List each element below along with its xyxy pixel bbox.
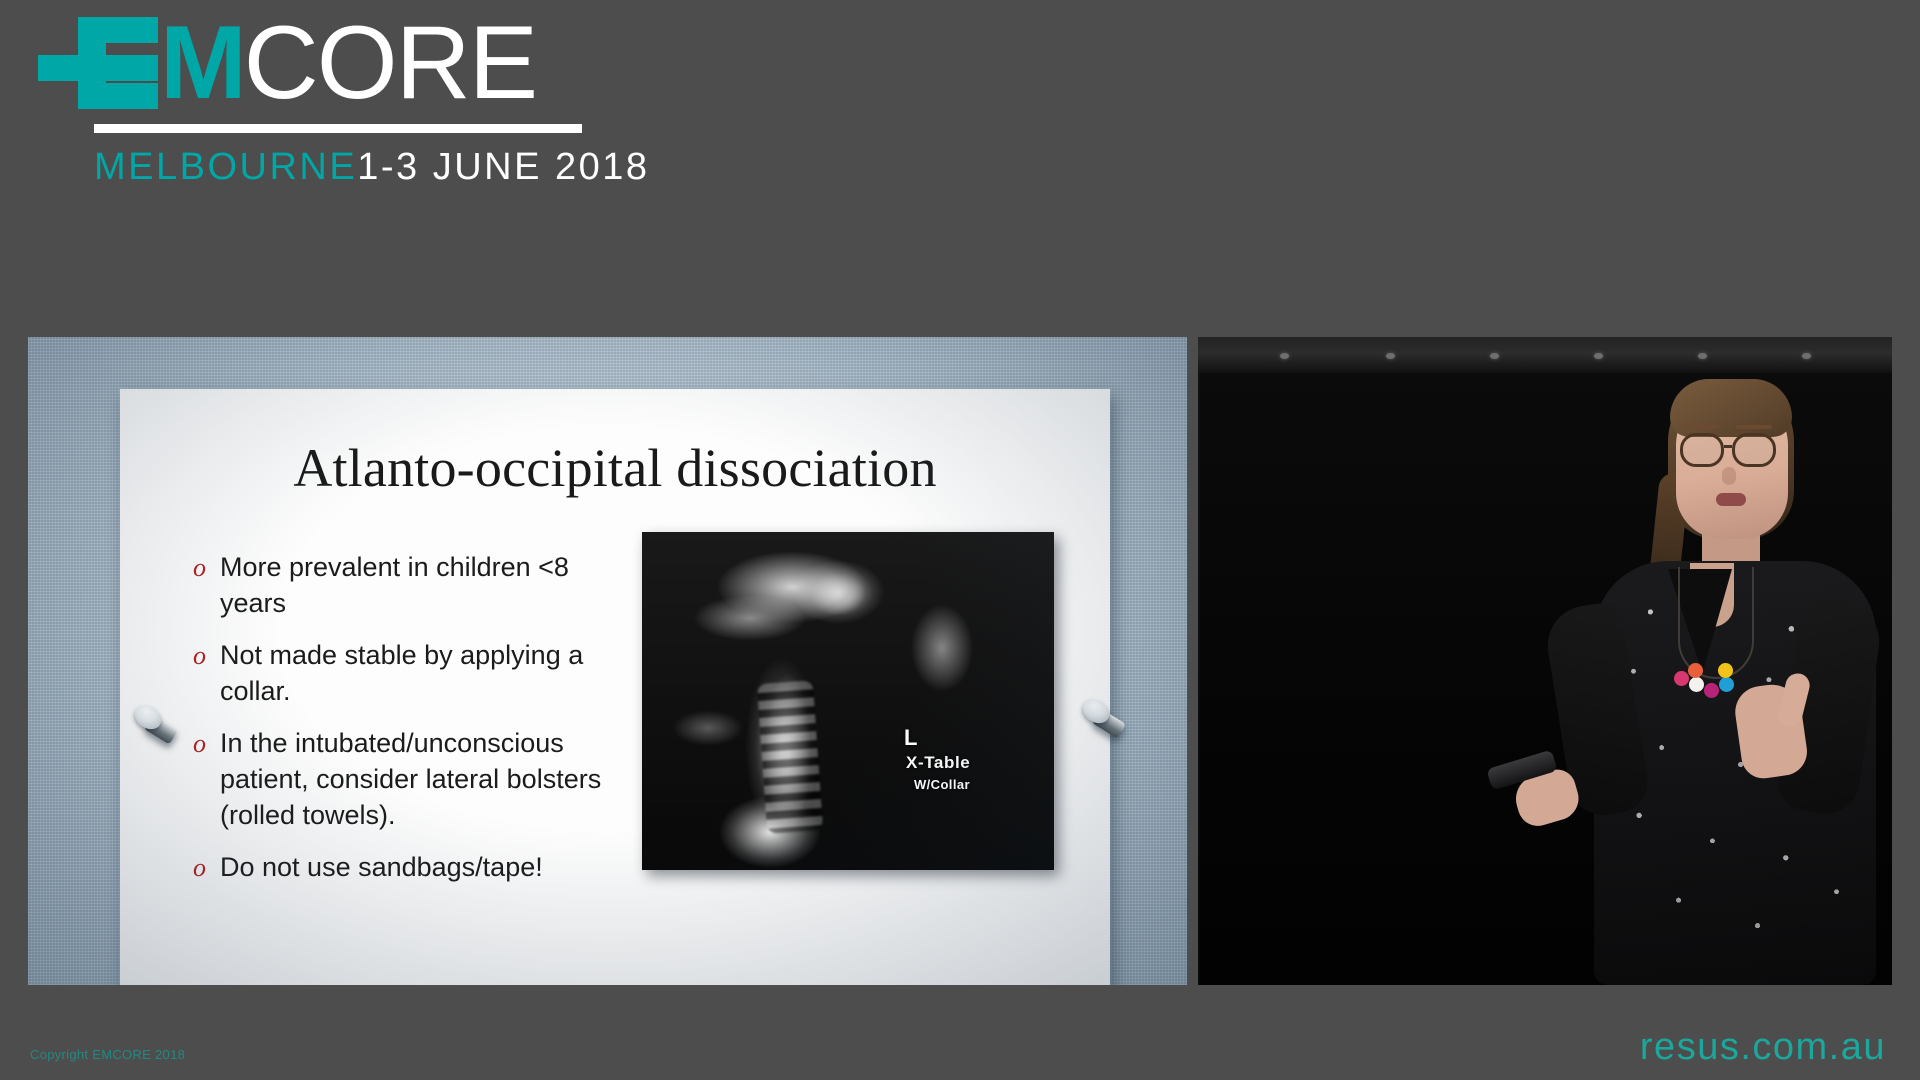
- xray-film: [642, 532, 1054, 870]
- bullet-text: Do not use sandbags/tape!: [220, 849, 620, 885]
- necklace-cord: [1678, 567, 1754, 679]
- brand-dates: 1-3 JUNE 2018: [357, 146, 649, 188]
- xray-anatomy: [642, 532, 1054, 870]
- necklace-bead: [1688, 663, 1703, 678]
- xray-note-label: W/Collar: [914, 777, 970, 792]
- eyeglasses-icon: [1732, 433, 1776, 467]
- slide-bullet-list: o More prevalent in children <8 years o …: [190, 549, 620, 903]
- list-item: o Do not use sandbags/tape!: [190, 849, 620, 887]
- brand-city: MELBOURNE: [94, 146, 357, 188]
- xray-technique-label: X-Table: [906, 753, 970, 773]
- necklace-bead: [1719, 677, 1734, 692]
- list-item: o In the intubated/unconscious patient, …: [190, 725, 620, 833]
- xray-side-label: L: [904, 725, 917, 751]
- presenter-figure: [1550, 355, 1892, 985]
- copyright-notice: Copyright EMCORE 2018: [30, 1047, 185, 1062]
- brand-divider-rule: [94, 124, 582, 133]
- emcore-branding: M CORE MELBOURNE1-3 JUNE 2018: [38, 8, 658, 189]
- bullet-text: More prevalent in children <8 years: [220, 549, 620, 621]
- bullet-text: Not made stable by applying a collar.: [220, 637, 620, 709]
- website-url[interactable]: resus.com.au: [1640, 1026, 1886, 1069]
- logo-word-core: CORE: [244, 17, 536, 109]
- brand-subtitle: MELBOURNE1-3 JUNE 2018: [94, 145, 658, 189]
- list-item: o More prevalent in children <8 years: [190, 549, 620, 621]
- necklace-bead: [1718, 663, 1733, 678]
- presentation-stage: M CORE MELBOURNE1-3 JUNE 2018 Atlanto-oc…: [0, 0, 1920, 1080]
- bullet-marker-icon: o: [190, 725, 220, 763]
- necklace-bead: [1674, 671, 1689, 686]
- necklace-bead: [1704, 683, 1719, 698]
- logo-letter-m: M: [160, 17, 244, 109]
- eyeglasses-icon: [1680, 433, 1724, 467]
- bullet-marker-icon: o: [190, 849, 220, 887]
- bullet-marker-icon: o: [190, 549, 220, 587]
- emcore-wordmark: M CORE: [38, 8, 658, 118]
- speaker-video-feed[interactable]: [1198, 337, 1892, 985]
- emcore-cross-e-icon: [38, 17, 158, 109]
- cervical-spine-xray-image: L X-Table W/Collar: [642, 532, 1054, 870]
- bullet-marker-icon: o: [190, 637, 220, 675]
- xray-vertebrae: [757, 680, 823, 834]
- bullet-text: In the intubated/unconscious patient, co…: [220, 725, 620, 833]
- slide-title: Atlanto-occipital dissociation: [120, 437, 1110, 499]
- necklace-bead: [1689, 677, 1704, 692]
- slide-paper-sheet: Atlanto-occipital dissociation o More pr…: [120, 389, 1110, 985]
- list-item: o Not made stable by applying a collar.: [190, 637, 620, 709]
- slide-panel[interactable]: Atlanto-occipital dissociation o More pr…: [28, 337, 1187, 985]
